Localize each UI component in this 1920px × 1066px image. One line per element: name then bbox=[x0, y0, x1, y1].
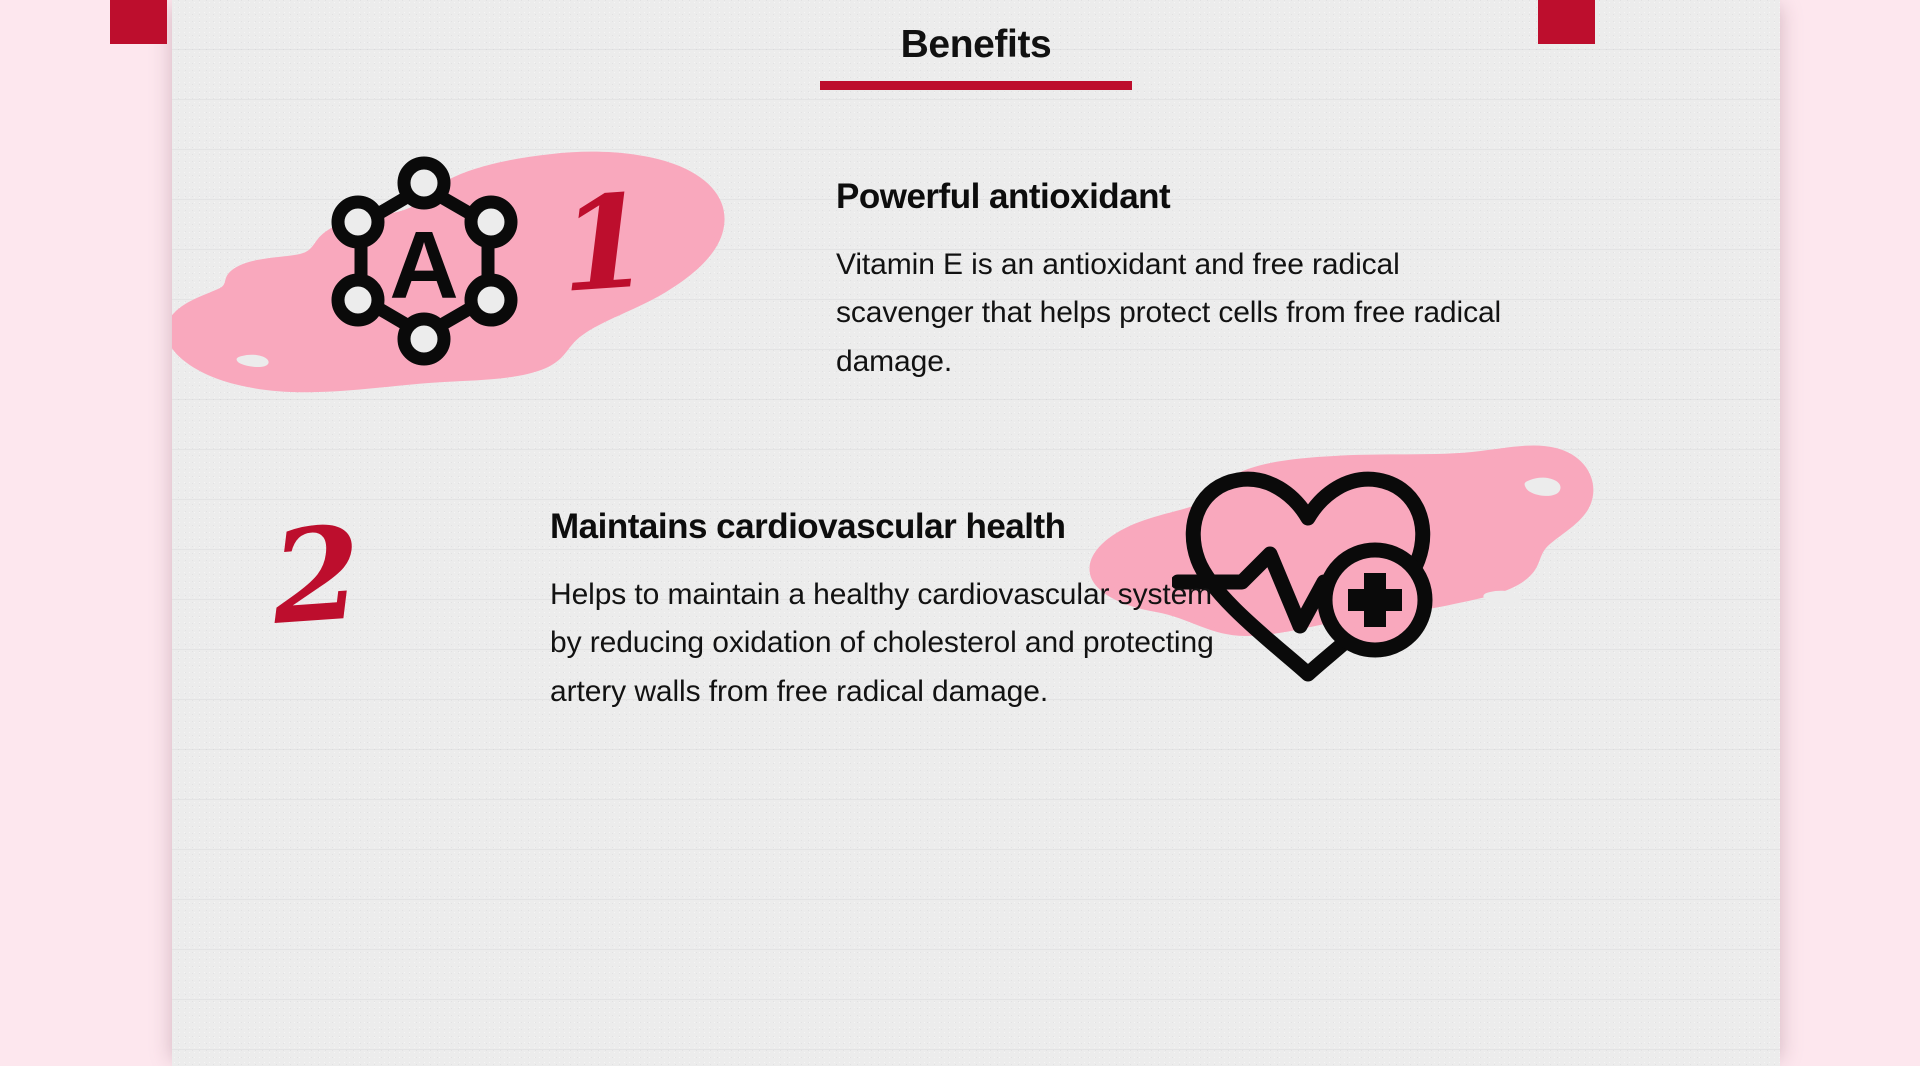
benefit-body-1: Vitamin E is an antioxidant and free rad… bbox=[836, 241, 1516, 387]
benefit-heading-1: Powerful antioxidant bbox=[836, 178, 1556, 217]
svg-text:A: A bbox=[389, 212, 458, 319]
benefit-item-1: Powerful antioxidant Vitamin E is an ant… bbox=[836, 178, 1556, 386]
hexagon-molecule-a-icon: A bbox=[300, 155, 550, 385]
benefit-heading-2: Maintains cardiovascular health bbox=[550, 508, 1250, 547]
benefit-number-2: 2 bbox=[268, 509, 366, 643]
benefit-body-2: Helps to maintain a healthy cardiovascul… bbox=[550, 571, 1230, 717]
corner-tab-right bbox=[1538, 0, 1595, 44]
benefit-item-2: Maintains cardiovascular health Helps to… bbox=[550, 508, 1250, 716]
paper-sheet: Benefits A 1 Powerful antioxidant Vit bbox=[172, 0, 1780, 1066]
benefit-number-1: 1 bbox=[556, 177, 654, 311]
corner-tab-left bbox=[110, 0, 167, 44]
title-underline bbox=[820, 81, 1132, 90]
